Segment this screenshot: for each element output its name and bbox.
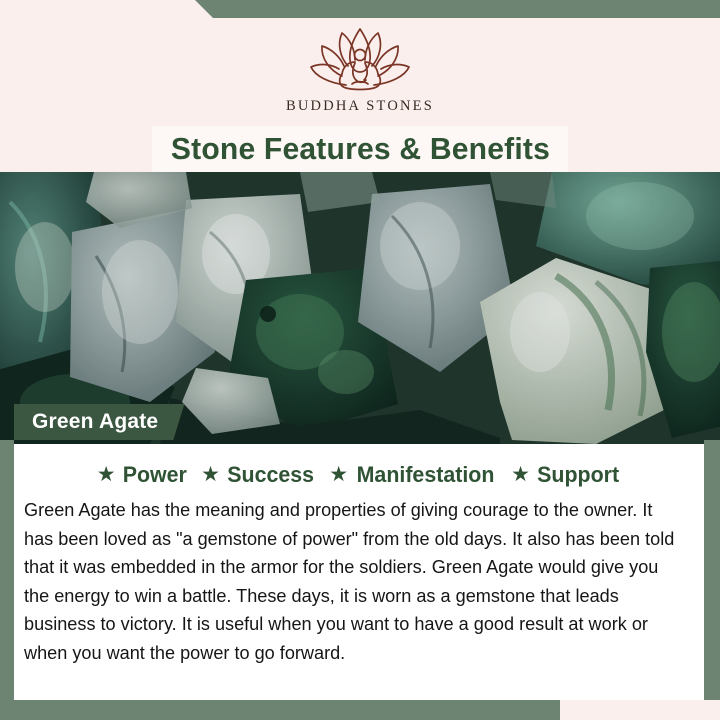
- title-banner: Stone Features & Benefits: [152, 126, 568, 172]
- brand-logo: BUDDHA STONES: [0, 24, 720, 115]
- benefit-item: ★ Manifestation: [329, 462, 498, 488]
- stone-photo: [0, 172, 720, 444]
- benefit-label: Manifestation: [357, 462, 495, 488]
- stone-description: Green Agate has the meaning and properti…: [24, 496, 682, 667]
- frame-edge-left: [0, 440, 14, 720]
- header-section: BUDDHA STONES Stone Features & Benefits: [0, 0, 720, 172]
- benefit-label: Support: [537, 462, 619, 488]
- star-icon: ★: [511, 464, 530, 485]
- frame-edge-bottom: [0, 700, 580, 720]
- star-icon: ★: [97, 464, 116, 485]
- stone-photo-illustration: [0, 172, 720, 444]
- benefit-item: ★ Support: [511, 462, 621, 488]
- body-panel: ★ Power ★ Success ★ Manifestation ★ Supp…: [14, 444, 704, 700]
- header-green-wedge: [190, 0, 720, 18]
- benefit-item: ★ Power: [97, 462, 188, 488]
- benefit-label: Power: [122, 462, 186, 488]
- stone-name-banner: Green Agate: [14, 404, 184, 440]
- frame-edge-right: [704, 440, 720, 535]
- infographic-card: BUDDHA STONES Stone Features & Benefits: [0, 0, 720, 720]
- benefit-label: Success: [227, 462, 314, 488]
- frame-bottom-fill: [560, 700, 720, 720]
- brand-wordmark: BUDDHA STONES: [286, 98, 434, 115]
- page-title: Stone Features & Benefits: [170, 131, 549, 167]
- star-icon: ★: [329, 464, 348, 485]
- star-icon: ★: [201, 464, 220, 485]
- lotus-meditation-icon: [300, 24, 420, 94]
- benefits-row: ★ Power ★ Success ★ Manifestation ★ Supp…: [14, 462, 704, 488]
- stone-name: Green Agate: [32, 410, 158, 434]
- benefit-item: ★ Success: [201, 462, 316, 488]
